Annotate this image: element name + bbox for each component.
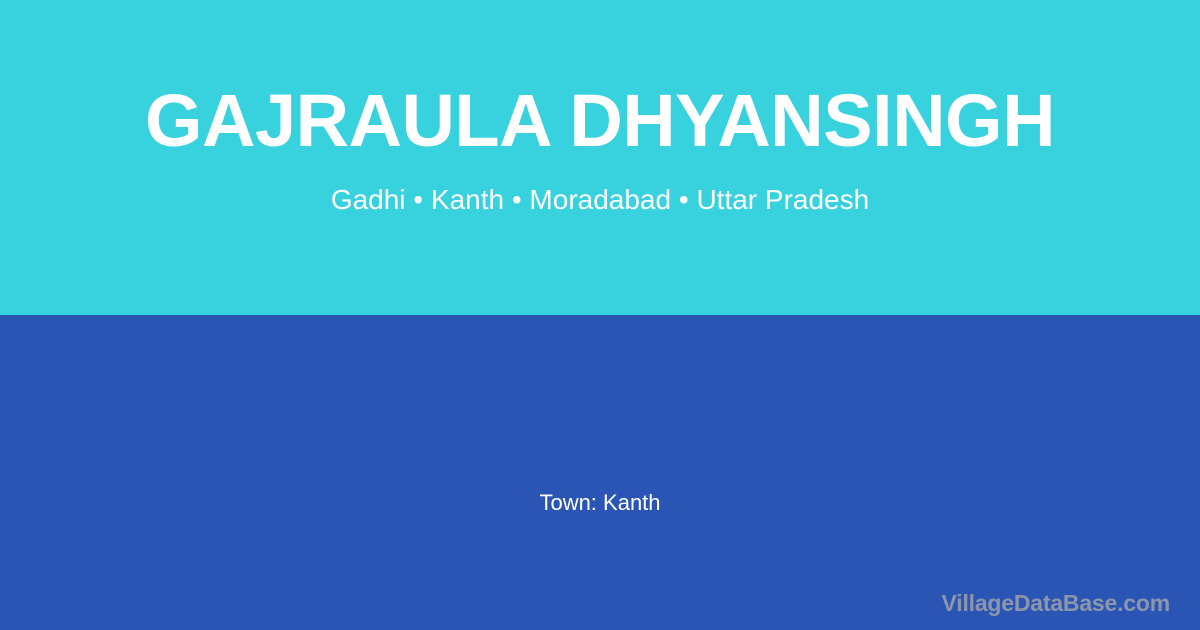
village-info-card: GAJRAULA DHYANSINGH Gadhi • Kanth • Mora… — [0, 0, 1200, 630]
body-panel: Town: Kanth VillageDataBase.com — [0, 315, 1200, 630]
breadcrumb: Gadhi • Kanth • Moradabad • Uttar Prades… — [0, 183, 1200, 217]
town-detail-text: Town: Kanth — [0, 489, 1200, 518]
page-title: GAJRAULA DHYANSINGH — [0, 84, 1200, 158]
header-banner: GAJRAULA DHYANSINGH Gadhi • Kanth • Mora… — [0, 0, 1200, 315]
site-watermark: VillageDataBase.com — [942, 590, 1170, 618]
